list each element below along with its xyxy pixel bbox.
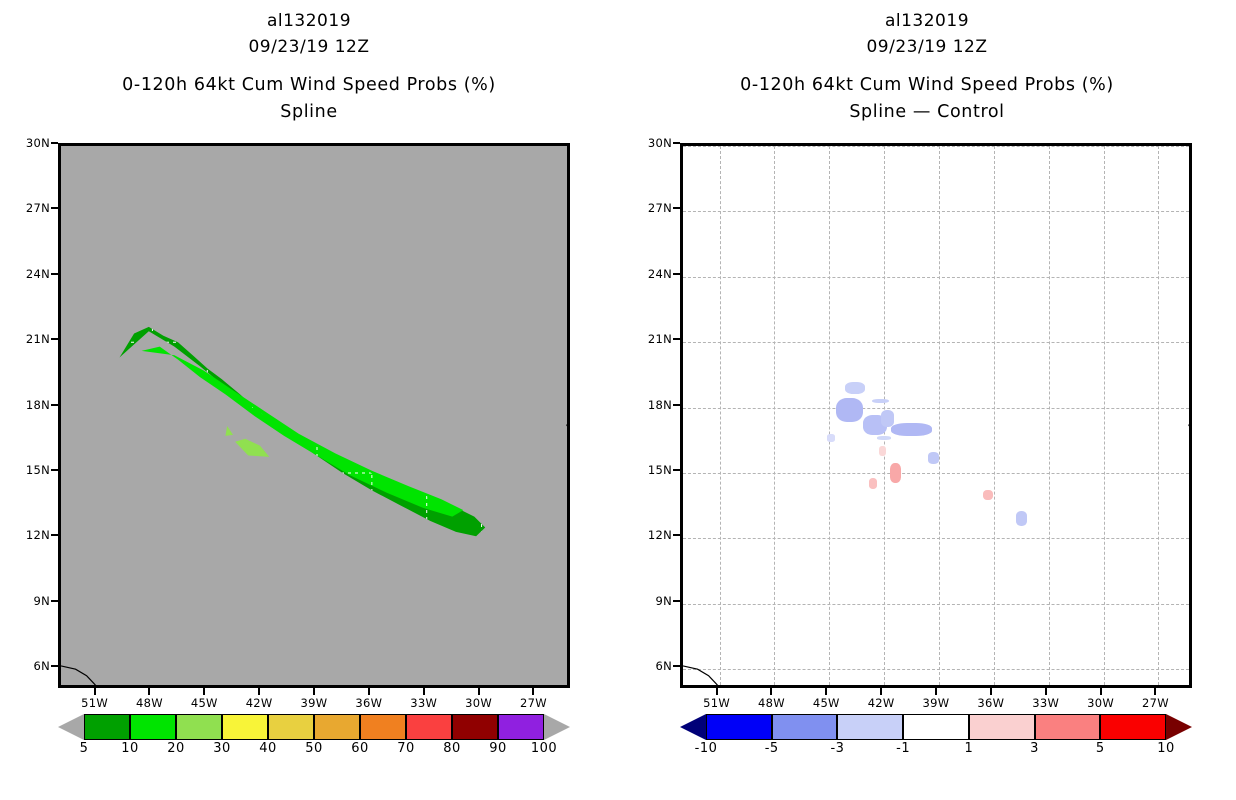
anomaly-blob (928, 452, 939, 464)
colorbar-tick-label: 40 (259, 741, 277, 756)
y-axis-tick-label: 21N (634, 332, 672, 346)
x-axis-tick-label: 36W (349, 696, 389, 710)
colorbar-segment[interactable] (837, 714, 903, 740)
anomaly-blob (983, 490, 993, 500)
x-axis-tick (1100, 688, 1102, 695)
chart-subtitle-left: Spline (0, 99, 618, 126)
colorbar-tick-label: -5 (765, 741, 779, 756)
chart-title-right: 0-120h 64kt Cum Wind Speed Probs (%) (618, 72, 1236, 99)
y-axis-tick-label: 30N (12, 136, 50, 150)
colorbar-tick-label: 30 (213, 741, 231, 756)
coastline-layer (683, 146, 1192, 688)
anomaly-blob (891, 423, 931, 436)
colorbar-segment[interactable] (130, 714, 176, 740)
x-axis-tick (148, 688, 150, 695)
x-axis-tick-label: 42W (861, 696, 901, 710)
x-axis-tick-label: 51W (697, 696, 737, 710)
x-axis-tick-label: 27W (513, 696, 553, 710)
colorbar-tick-label: 5 (80, 741, 89, 756)
colorbar-segment[interactable] (268, 714, 314, 740)
x-axis-tick-label: 27W (1135, 696, 1175, 710)
colorbar-tick-label: 5 (1096, 741, 1105, 756)
y-axis-tick (51, 534, 58, 536)
colorbar-segment[interactable] (406, 714, 452, 740)
x-axis-tick (880, 688, 882, 695)
colorbar-cap-high (544, 714, 570, 740)
colorbar-tick-label: -3 (830, 741, 844, 756)
y-axis-tick (51, 207, 58, 209)
datetime-right: 09/23/19 12Z (618, 34, 1236, 60)
colorbar-segment[interactable] (176, 714, 222, 740)
y-axis-tick-label: 9N (12, 594, 50, 608)
anomaly-blob (890, 463, 901, 483)
y-axis-tick (51, 273, 58, 275)
gridline-horizontal (683, 342, 1189, 343)
y-axis-tick (673, 273, 680, 275)
anomaly-blob (845, 382, 865, 394)
colorbar-segment[interactable] (222, 714, 268, 740)
y-axis-tick (51, 142, 58, 144)
colorbar-segment[interactable] (314, 714, 360, 740)
chart-subtitle-right: Spline — Control (618, 99, 1236, 126)
map-plot-spline-control[interactable] (680, 143, 1192, 688)
x-axis-tick (1154, 688, 1156, 695)
y-axis-tick-label: 18N (634, 398, 672, 412)
x-axis-tick-label: 51W (75, 696, 115, 710)
x-axis-tick (990, 688, 992, 695)
x-axis-tick-label: 42W (239, 696, 279, 710)
colorbar-segment[interactable] (903, 714, 969, 740)
x-axis-tick-label: 48W (129, 696, 169, 710)
y-axis-tick-label: 15N (12, 463, 50, 477)
colorbar-tick-label: 80 (443, 741, 461, 756)
x-axis-tick (935, 688, 937, 695)
y-axis-tick (673, 142, 680, 144)
y-axis-tick (673, 338, 680, 340)
x-axis-tick (94, 688, 96, 695)
gridline-horizontal (683, 408, 1189, 409)
y-axis-tick (51, 338, 58, 340)
anomaly-colorbar[interactable]: -10-5-3-113510 (680, 714, 1192, 764)
colorbar-tick-label: 90 (489, 741, 507, 756)
y-axis-tick-label: 9N (634, 594, 672, 608)
colorbar-segment[interactable] (84, 714, 130, 740)
colorbar-segment[interactable] (1035, 714, 1101, 740)
x-axis-tick-label: 48W (751, 696, 791, 710)
gridline-horizontal (683, 669, 1189, 670)
colorbar-tick-label: 50 (305, 741, 323, 756)
storm-id-right: al132019 (618, 8, 1236, 34)
anomaly-blob (872, 399, 888, 404)
x-axis-tick-label: 33W (1026, 696, 1066, 710)
x-axis-tick (423, 688, 425, 695)
chart-title-left: 0-120h 64kt Cum Wind Speed Probs (%) (0, 72, 618, 99)
x-axis-tick (825, 688, 827, 695)
colorbar-tick-label: 1 (964, 741, 973, 756)
y-axis-tick-label: 12N (634, 528, 672, 542)
colorbar-tick-label: 10 (121, 741, 139, 756)
contour-core (225, 426, 269, 457)
x-axis-tick (368, 688, 370, 695)
colorbar-tick-label: 70 (397, 741, 415, 756)
gridline-horizontal (683, 538, 1189, 539)
gridline-horizontal (683, 211, 1189, 212)
anomaly-blob (869, 478, 877, 489)
probability-colorbar[interactable]: 5102030405060708090100 (58, 714, 570, 764)
anomaly-blob (836, 398, 863, 422)
panel-spline: al132019 09/23/19 12Z 0-120h 64kt Cum Wi… (0, 0, 618, 800)
panel-right-titles: al132019 09/23/19 12Z 0-120h 64kt Cum Wi… (618, 8, 1236, 126)
panel-spline-control: al132019 09/23/19 12Z 0-120h 64kt Cum Wi… (618, 0, 1236, 800)
y-axis-tick-label: 24N (634, 267, 672, 281)
x-axis-tick (478, 688, 480, 695)
x-axis-tick-label: 39W (916, 696, 956, 710)
x-axis-tick (203, 688, 205, 695)
anomaly-blob (1016, 511, 1027, 526)
gridline-horizontal (683, 473, 1189, 474)
colorbar-tick-label: 100 (531, 741, 557, 756)
y-axis-tick (51, 469, 58, 471)
coastline-island (1189, 422, 1192, 433)
gridline-layer-left (61, 146, 570, 688)
y-axis-tick (673, 469, 680, 471)
coastline-island (567, 422, 570, 433)
y-axis-tick-label: 12N (12, 528, 50, 542)
panel-left-titles: al132019 09/23/19 12Z 0-120h 64kt Cum Wi… (0, 8, 618, 126)
colorbar-cap-low (680, 714, 706, 740)
x-axis-tick-label: 39W (294, 696, 334, 710)
y-axis-tick-label: 6N (12, 659, 50, 673)
y-axis-tick (673, 665, 680, 667)
colorbar-segment[interactable] (1100, 714, 1166, 740)
x-axis-tick (1045, 688, 1047, 695)
y-axis-tick-label: 21N (12, 332, 50, 346)
x-axis-tick-label: 30W (1081, 696, 1121, 710)
contour-layer (61, 146, 570, 688)
x-axis-tick-label: 33W (404, 696, 444, 710)
colorbar-tick-label: -1 (896, 741, 910, 756)
map-plot-spline[interactable] (58, 143, 570, 688)
anomaly-blob (879, 446, 885, 456)
x-axis-tick (716, 688, 718, 695)
x-axis-tick-label: 30W (459, 696, 499, 710)
colorbar-tick-label: 3 (1030, 741, 1039, 756)
x-axis-tick-label: 45W (184, 696, 224, 710)
y-axis-tick-label: 6N (634, 659, 672, 673)
colorbar-segment[interactable] (498, 714, 544, 740)
colorbar-segment[interactable] (452, 714, 498, 740)
colorbar-tick-label: 20 (167, 741, 185, 756)
colorbar-segment[interactable] (706, 714, 772, 740)
y-axis-tick-label: 24N (12, 267, 50, 281)
colorbar-segment[interactable] (772, 714, 838, 740)
y-axis-tick (51, 665, 58, 667)
x-axis-tick (258, 688, 260, 695)
colorbar-cap-low (58, 714, 84, 740)
y-axis-tick-label: 15N (634, 463, 672, 477)
colorbar-segment[interactable] (360, 714, 406, 740)
colorbar-tick-label: 10 (1157, 741, 1175, 756)
x-axis-tick (770, 688, 772, 695)
y-axis-tick (673, 207, 680, 209)
x-axis-tick-label: 36W (971, 696, 1011, 710)
x-axis-tick-label: 45W (806, 696, 846, 710)
y-axis-tick (51, 404, 58, 406)
x-axis-tick (532, 688, 534, 695)
storm-id-left: al132019 (0, 8, 618, 34)
gridline-horizontal (683, 146, 1189, 147)
y-axis-tick (673, 404, 680, 406)
gridline-horizontal (683, 604, 1189, 605)
x-axis-tick (313, 688, 315, 695)
anomaly-blob (877, 436, 892, 439)
anomaly-blob (827, 434, 834, 442)
contour-band (142, 347, 464, 517)
y-axis-tick-label: 30N (634, 136, 672, 150)
colorbar-segment[interactable] (969, 714, 1035, 740)
colorbar-tick-label: 60 (351, 741, 369, 756)
y-axis-tick-label: 27N (634, 201, 672, 215)
y-axis-tick-label: 27N (12, 201, 50, 215)
y-axis-tick (51, 600, 58, 602)
colorbar-tick-label: -10 (695, 741, 718, 756)
colorbar-cap-high (1166, 714, 1192, 740)
y-axis-tick (673, 600, 680, 602)
y-axis-tick (673, 534, 680, 536)
datetime-left: 09/23/19 12Z (0, 34, 618, 60)
gridline-horizontal (683, 277, 1189, 278)
y-axis-tick-label: 18N (12, 398, 50, 412)
